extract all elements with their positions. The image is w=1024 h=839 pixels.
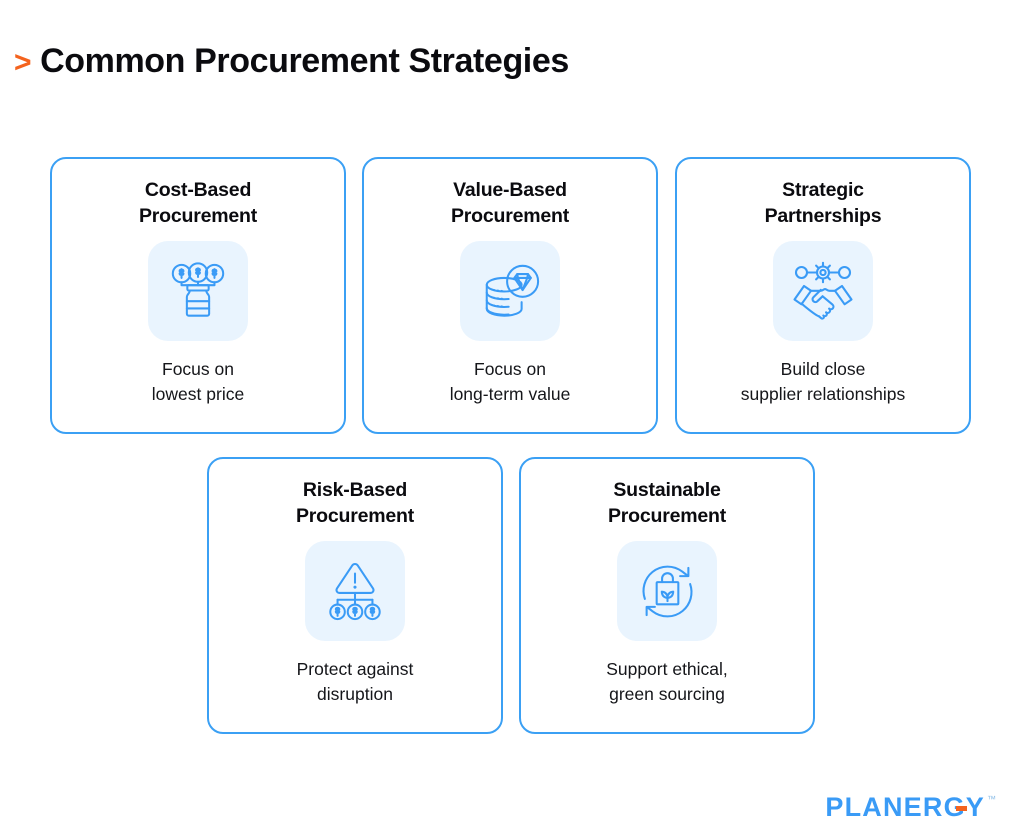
strategy-card-risk-based[interactable]: Risk-Based Procurement Protect against d… xyxy=(207,457,503,734)
card-title: Strategic Partnerships xyxy=(765,177,882,229)
recycle-shopping-bag-leaf-icon xyxy=(617,541,717,641)
trademark-symbol: ™ xyxy=(987,795,996,804)
card-title: Cost-Based Procurement xyxy=(139,177,257,229)
coins-over-jar-icon xyxy=(148,241,248,341)
warning-triangle-coins-icon xyxy=(305,541,405,641)
strategy-card-grid: Cost-Based Procurement Focus on lowest p… xyxy=(0,0,1024,839)
strategy-card-value-based[interactable]: Value-Based Procurement xyxy=(362,157,658,434)
card-caption: Focus on lowest price xyxy=(152,357,244,407)
handshake-gear-icon xyxy=(773,241,873,341)
card-title: Risk-Based Procurement xyxy=(296,477,414,529)
card-caption: Support ethical, green sourcing xyxy=(606,657,728,707)
strategy-card-strategic-partnerships[interactable]: Strategic Partnerships Build close su xyxy=(675,157,971,434)
card-caption: Build close supplier relationships xyxy=(741,357,905,407)
strategy-card-sustainable[interactable]: Sustainable Procurement Support ethical,… xyxy=(519,457,815,734)
brand-wordmark-text: PLANERGY xyxy=(825,794,985,821)
card-caption: Protect against disruption xyxy=(297,657,414,707)
card-title: Sustainable Procurement xyxy=(608,477,726,529)
card-title: Value-Based Procurement xyxy=(451,177,569,229)
strategy-card-cost-based[interactable]: Cost-Based Procurement Focus on lowest p… xyxy=(50,157,346,434)
coin-stack-diamond-icon xyxy=(460,241,560,341)
planergy-logo: PLANERGY ™ xyxy=(825,794,996,821)
card-caption: Focus on long-term value xyxy=(450,357,571,407)
